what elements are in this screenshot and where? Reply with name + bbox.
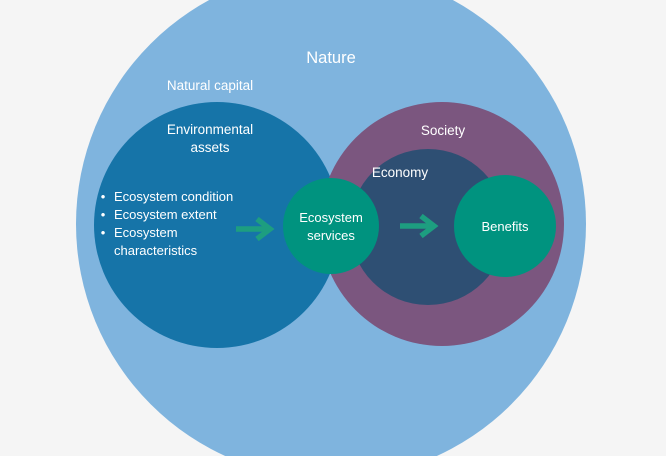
benefits-label: Benefits <box>482 219 529 234</box>
ecosystem-services-circle <box>283 178 379 274</box>
bullet-marker: • <box>101 189 106 204</box>
ecosystem-services-diagram: Nature Natural capital Environmental ass… <box>0 0 666 456</box>
bullet-item-text: Ecosystem condition <box>114 189 233 204</box>
diagram-root: Nature Natural capital Environmental ass… <box>0 0 666 456</box>
environmental-assets-label-line1: Environmental <box>167 122 253 137</box>
bullet-marker: • <box>101 207 106 222</box>
society-label: Society <box>421 123 466 138</box>
ecosystem-services-label-line2: services <box>307 228 355 243</box>
bullet-item-text-continued: characteristics <box>114 243 198 258</box>
bullet-marker: • <box>101 225 106 240</box>
natural-capital-label: Natural capital <box>167 78 253 93</box>
ecosystem-services-label-line1: Ecosystem <box>299 210 363 225</box>
economy-label: Economy <box>372 165 429 180</box>
bullet-item-text: Ecosystem extent <box>114 207 217 222</box>
nature-label: Nature <box>306 49 356 67</box>
bullet-item-text: Ecosystem <box>114 225 178 240</box>
environmental-assets-label-line2: assets <box>190 140 229 155</box>
